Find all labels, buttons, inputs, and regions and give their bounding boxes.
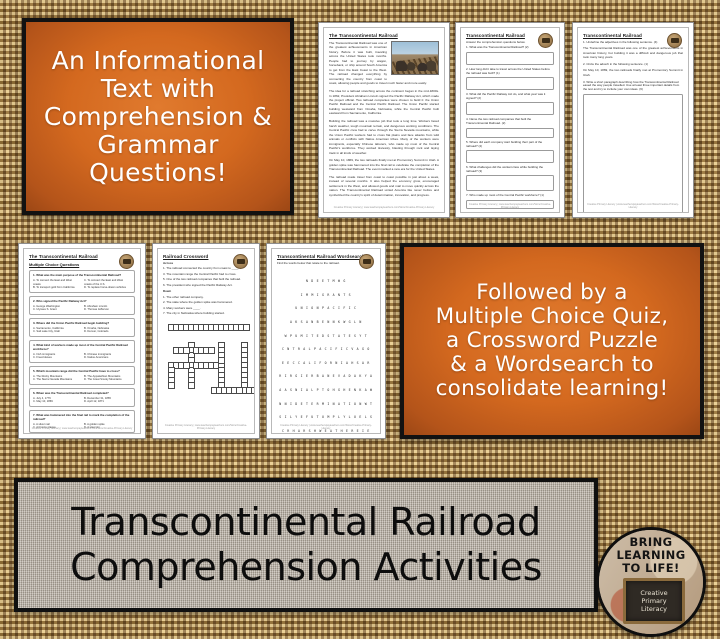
wordsearch-row: N N I D E T E R M I N A T I O N W T [277, 402, 375, 407]
quiz-option[interactable]: D. Thomas Jefferson [84, 308, 131, 312]
quiz-option[interactable]: C. Salt Lake City, Utah [33, 330, 80, 334]
page-multiple-choice-quiz[interactable]: The Transcontinental Railroad Multiple C… [18, 243, 146, 439]
answer-field[interactable] [466, 150, 554, 163]
answer-field[interactable] [466, 102, 554, 115]
logo-stamp-icon [233, 254, 248, 269]
page-footer: Creative Primary Literacy | www.teachers… [278, 424, 374, 430]
wordsearch-row: E E C C A L I F O R N I A H S A R [277, 361, 375, 366]
grammar-question: 3. Write a short paragraph describing ho… [583, 81, 683, 93]
page-footer: Creative Primary Literacy | www.teachers… [584, 203, 682, 209]
page-footer: Creative Primary Literacy | www.teachers… [164, 424, 248, 430]
logo-tagline: BRING LEARNING TO LIFE! [599, 536, 703, 575]
crossword-clue: 4. Many workers were ____. [163, 307, 249, 311]
grammar-sentence: On May 10, 1869, the two railroads final… [583, 68, 683, 77]
grammar-question: 2. Circle the adverb in the following se… [583, 63, 683, 67]
quiz-question: 1. What was the main purpose of the Tran… [33, 273, 131, 277]
quiz-question: 6. When was the Transcontinental Railroa… [33, 391, 131, 395]
product-title-line2: Comprehension Activities [70, 545, 542, 590]
question-label: 6. What challenges did the workers face … [466, 166, 554, 174]
page-crossword[interactable]: Railroad Crossword Across 1. The railroa… [152, 243, 260, 439]
page-footer: Creative Primary Literacy | www.teachers… [30, 427, 134, 430]
quiz-option[interactable]: C. Ulysses S. Grant [33, 308, 80, 312]
answer-field[interactable] [466, 77, 554, 90]
page-footer: Creative Primary Literacy | www.teachers… [330, 206, 438, 209]
wordsearch-row: R I R G I E R B A N E V A D A K Y A [277, 374, 375, 379]
page-comprehension-questions[interactable]: Transcontinental Railroad Answer the com… [455, 22, 565, 218]
railroad-workers-photo [391, 41, 439, 75]
answer-field[interactable] [466, 52, 554, 65]
wordsearch-row: C N T R A L P A C I F I C V A G O [277, 347, 375, 352]
brand-logo-badge: BRING LEARNING TO LIFE! Creative Primary… [596, 527, 706, 637]
quiz-question: 3. Where did the Union Pacific Railroad … [33, 321, 131, 325]
callout-intro-text: An Informational Text with Comprehension… [36, 43, 280, 191]
wordsearch-row: I M M I G R A N T S [277, 293, 375, 298]
quiz-item[interactable]: 5. Which mountain range did the Central … [29, 366, 135, 385]
crossword-grid[interactable] [163, 320, 249, 408]
quiz-option[interactable]: C. Freed slaves [33, 356, 80, 360]
logo-stamp-icon [119, 254, 134, 269]
page-grammar-questions[interactable]: Transcontinental Railroad 1. Underline t… [572, 22, 694, 218]
question-label: 7. Who made up most of the Central Pacif… [466, 194, 554, 198]
crossword-clue: 3. The mountain range the Central Pacifi… [163, 273, 249, 277]
crossword-clue: 2. The state where the golden spike was … [163, 301, 249, 305]
logo-stamp-icon [538, 33, 553, 48]
wordsearch-row: W P U M I T E D S T A T E S Y T [277, 334, 375, 339]
question-label: 4. Name the two railroad companies that … [466, 118, 554, 126]
info-page-title: The Transcontinental Railroad [329, 33, 439, 38]
chalkboard-icon: Creative Primary Literacy [623, 578, 685, 624]
info-paragraph: The railroad made travel from coast to c… [329, 175, 439, 197]
logo-stamp-icon [667, 33, 682, 48]
quiz-option[interactable]: D. April 12, 1871 [84, 400, 131, 404]
quiz-item[interactable]: 3. Where did the Union Pacific Railroad … [29, 318, 135, 337]
logo-stamp-icon [359, 254, 374, 269]
quiz-option[interactable]: B. To transport gold from California [33, 286, 80, 290]
page-footer: Creative Primary Literacy | www.teachers… [467, 203, 553, 209]
quiz-question: 2. Who signed the Pacific Railway Act? [33, 299, 131, 303]
crossword-clue: 6. The president who signed the Pacific … [163, 284, 249, 288]
question-label: 5. Where did each company start building… [466, 141, 554, 149]
quiz-item[interactable]: 4. What kind of workers made up most of … [29, 340, 135, 363]
wordsearch-row: A K S A N B E N N K W G L N [277, 320, 375, 325]
quiz-question: 7. What was hammered into the final rail… [33, 413, 131, 421]
product-title-line1: Transcontinental Railroad [71, 500, 540, 545]
wordsearch-row: A A S N I A L P T O H G H E N K A W [277, 388, 375, 393]
crossword-clue: 1. The other railroad company. [163, 296, 249, 300]
quiz-option[interactable]: D. Denver, Colorado [84, 330, 131, 334]
quiz-option[interactable]: D. To replace horse-drawn vehicles [84, 286, 131, 290]
crossword-down-heading: Down [163, 290, 249, 294]
question-label: 8. When and where did the two railroads … [466, 212, 554, 213]
wordsearch-row: U N I O N P A C I F I C [277, 306, 375, 311]
quiz-question: 4. What kind of workers made up most of … [33, 343, 131, 351]
page-informational-text[interactable]: The Transcontinental Railroad The Transc… [318, 22, 450, 218]
grammar-sentence: The Transcontinental Railroad was one of… [583, 46, 683, 59]
quiz-option[interactable]: C. The Sierra Nevada Mountains [33, 378, 80, 382]
crossword-clue: 5. One of the two railroad companies tha… [163, 278, 249, 282]
info-paragraph: Building the railroad was a massive job … [329, 119, 439, 155]
product-title-banner: Transcontinental Railroad Comprehension … [14, 478, 598, 612]
info-paragraph: On May 10, 1869, the two railroads final… [329, 158, 439, 171]
quiz-question: 5. Which mountain range did the Central … [33, 369, 131, 373]
quiz-item[interactable]: 6. When was the Transcontinental Railroa… [29, 388, 135, 407]
answer-field[interactable] [466, 175, 554, 191]
crossword-clue: 7. The city in Nebraska where building s… [163, 312, 249, 316]
quiz-item[interactable]: 1. What was the main purpose of the Tran… [29, 270, 135, 293]
grammar-answer-field[interactable] [583, 94, 683, 213]
answer-field[interactable] [466, 128, 554, 138]
question-label: 3. What did the Pacific Railway Act do, … [466, 93, 554, 101]
callout-followed-by: Followed by a Multiple Choice Quiz, a Cr… [400, 243, 704, 439]
wordsearch-grid[interactable]: N D E E T M W G I M M I G R A N T S U N … [277, 270, 375, 434]
callout-followed-text: Followed by a Multiple Choice Quiz, a Cr… [428, 277, 677, 405]
wordsearch-row: S I L Y E F U T U M P L Y L U E L S [277, 415, 375, 420]
info-paragraph: The idea for a railroad stretching acros… [329, 89, 439, 116]
quiz-item[interactable]: 2. Who signed the Pacific Railway Act? A… [29, 296, 135, 315]
quiz-option[interactable]: D. The Great Smoky Mountains [84, 378, 131, 382]
quiz-option[interactable]: C. May 10, 1869 [33, 400, 80, 404]
page-wordsearch[interactable]: Transcontinental Railroad Wordsearch Fin… [266, 243, 386, 439]
wordsearch-row: N D E E T M W G [277, 279, 375, 284]
quiz-option[interactable]: D. Native Americans [84, 356, 131, 360]
question-label: 2. How long did it take to travel across… [466, 68, 554, 76]
callout-informational-text: An Informational Text with Comprehension… [22, 18, 294, 215]
chalkboard-brand-text: Creative Primary Literacy [640, 589, 667, 613]
